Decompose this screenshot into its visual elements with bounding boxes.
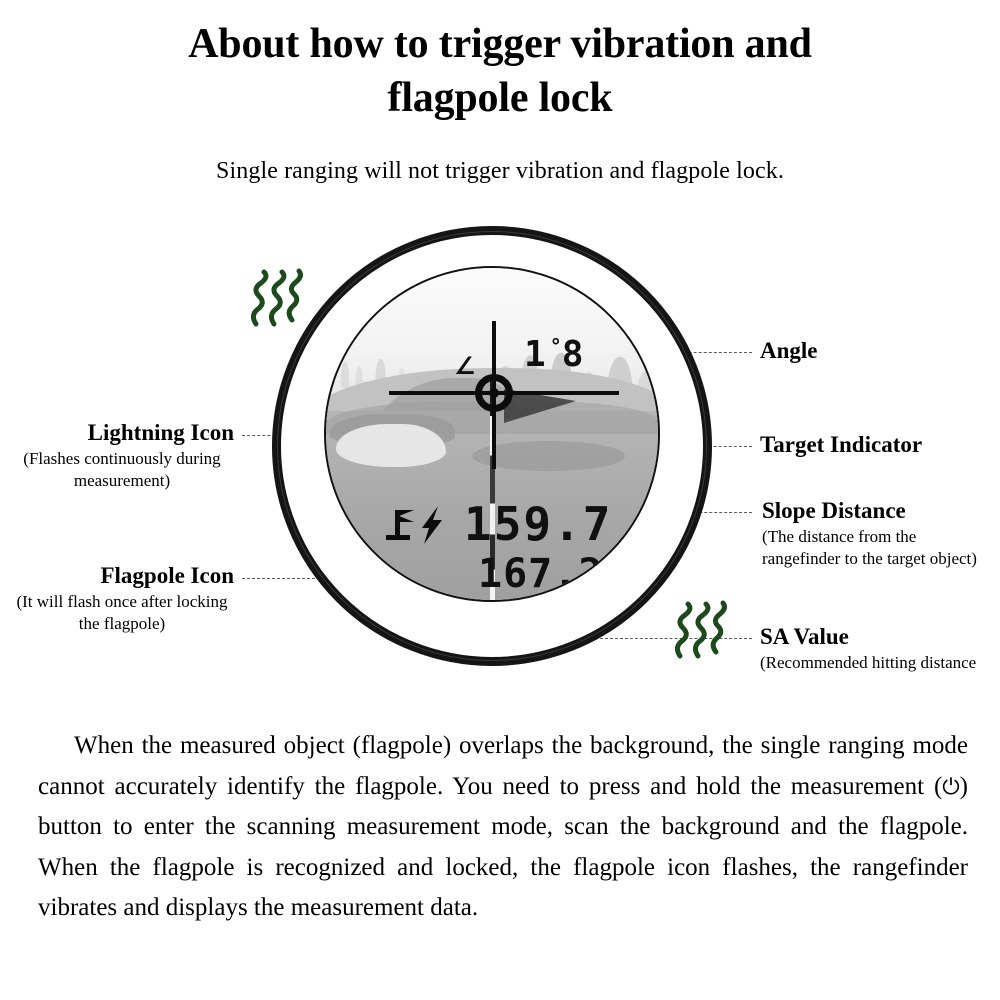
callout-angle-title: Angle xyxy=(760,338,818,364)
reticle-center-dot xyxy=(489,388,499,398)
sa-value-number: 167.2 xyxy=(478,551,603,597)
flagpole-icon-base xyxy=(386,535,410,540)
callout-angle: Angle xyxy=(760,338,818,364)
degree-symbol-icon: ° xyxy=(550,334,562,358)
callout-flagpole-icon: Flagpole Icon (It will flash once after … xyxy=(10,563,234,635)
lcd-overlay: ∠ 1°8 159.7 167.2Y xyxy=(326,268,658,600)
callout-flagpole-icon-title: Flagpole Icon xyxy=(10,563,234,589)
angle-value-2: 8 xyxy=(562,334,588,375)
callout-lightning-icon: Lightning Icon (Flashes continuously dur… xyxy=(10,420,234,492)
page-subtitle: Single ranging will not trigger vibratio… xyxy=(0,158,1000,185)
angle-value: 1 xyxy=(524,334,550,375)
power-button-icon: ⏻ xyxy=(942,775,959,800)
callout-sa-value-subtitle: (Recommended hitting distance xyxy=(760,652,990,674)
rangefinder-scope: ∠ 1°8 159.7 167.2Y xyxy=(272,226,712,666)
callout-flagpole-icon-subtitle: (It will flash once after locking the fl… xyxy=(10,591,234,635)
callout-target-indicator-title: Target Indicator xyxy=(760,432,922,458)
distance-unit-label: Y xyxy=(609,568,621,592)
callout-lightning-icon-subtitle: (Flashes continuously during measurement… xyxy=(10,448,234,492)
callout-slope-distance: Slope Distance (The distance from the ra… xyxy=(762,498,988,570)
angle-readout: 1°8 xyxy=(524,336,587,373)
callout-lightning-icon-title: Lightning Icon xyxy=(10,420,234,446)
vibration-waves-icon-left xyxy=(248,268,308,330)
lightning-bolt-icon xyxy=(418,506,444,544)
callout-target-indicator: Target Indicator xyxy=(760,432,922,458)
callout-sa-value: SA Value (Recommended hitting distance xyxy=(760,624,990,674)
sa-value-readout: 167.2Y xyxy=(478,554,621,594)
body-paragraph-part1: When the measured object (flagpole) over… xyxy=(38,732,968,800)
vibration-waves-icon-right xyxy=(672,600,732,662)
flagpole-icon xyxy=(386,510,412,540)
page-title-line2: flagpole lock xyxy=(0,72,1000,126)
callout-slope-distance-subtitle: (The distance from the rangefinder to th… xyxy=(762,526,988,570)
scope-viewfinder: ∠ 1°8 159.7 167.2Y xyxy=(324,266,660,602)
flagpole-icon-pennant xyxy=(399,510,414,522)
body-paragraph: When the measured object (flagpole) over… xyxy=(38,726,968,929)
page-title: About how to trigger vibration and flagp… xyxy=(0,18,1000,126)
slope-distance-readout: 159.7 xyxy=(464,501,612,547)
callout-slope-distance-title: Slope Distance xyxy=(762,498,988,524)
page-title-line1: About how to trigger vibration and xyxy=(0,18,1000,72)
angle-symbol-icon: ∠ xyxy=(454,354,476,378)
callout-sa-value-title: SA Value xyxy=(760,624,990,650)
